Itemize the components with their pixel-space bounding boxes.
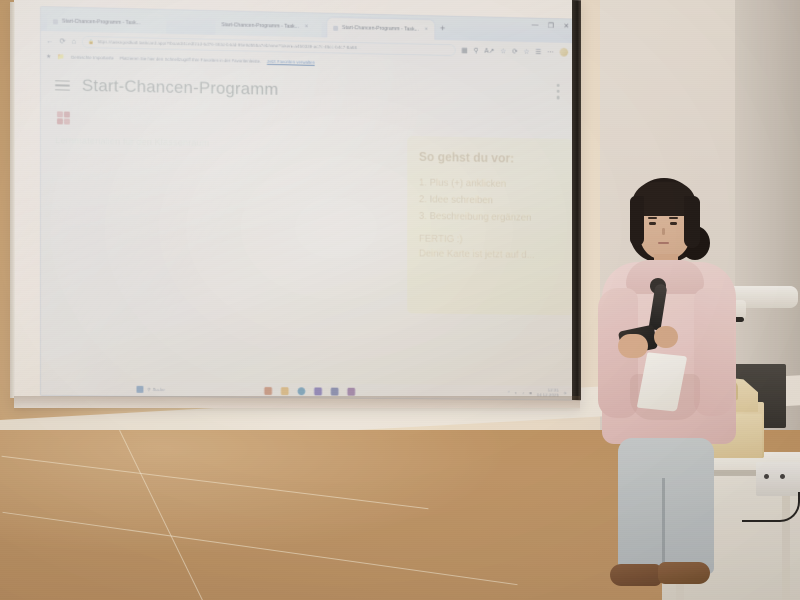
audio-device (756, 462, 800, 496)
close-window-button[interactable]: ✕ (564, 22, 570, 30)
search-input[interactable]: ⚲ Suche (147, 386, 164, 392)
address-bar-value: https://taskngoldkatt.taskcard.app/#/boa… (97, 39, 360, 50)
volume-icon[interactable]: ♪ (522, 390, 524, 395)
hamburger-menu-icon[interactable] (55, 80, 70, 91)
taskbar-search-area[interactable]: ⚲ Suche (136, 386, 164, 393)
clock-time: 12:31 (537, 388, 559, 393)
jeans-seam (662, 478, 665, 574)
profile-avatar[interactable] (560, 48, 569, 57)
hand-left (618, 334, 648, 358)
tab-close-icon[interactable]: × (305, 24, 308, 30)
battery-icon[interactable]: ■ (529, 390, 532, 395)
maximize-button[interactable]: ❐ (548, 22, 554, 30)
hair-side-left (630, 196, 644, 246)
add-favorite-icon[interactable]: ☆ (523, 47, 529, 55)
file-explorer-icon[interactable] (264, 387, 272, 395)
taskcard-web-app: Start-Chancen-Programm Lernmaterialien f… (41, 63, 573, 386)
shoe-right (658, 562, 710, 584)
new-tab-button[interactable]: + (440, 23, 445, 33)
instruction-step-3: 3. Beschreibung ergänzen (419, 208, 562, 227)
sleeve-right (694, 288, 734, 416)
card-subheading-2: für eine bessere Lernumgebung (51, 213, 380, 232)
screen-right-edge (572, 0, 581, 400)
device-button[interactable] (780, 474, 785, 479)
tab-1[interactable]: Start-Chancen-Programm - Task... × (327, 18, 434, 40)
windows-start-icon[interactable] (136, 386, 143, 393)
presenter (596, 178, 736, 598)
eyebrow-left (648, 217, 657, 219)
app-header: Start-Chancen-Programm (41, 63, 573, 117)
page-title: Start-Chancen-Programm (82, 76, 279, 100)
folder-icon[interactable] (281, 387, 289, 395)
settings-more-icon[interactable]: ⋯ (547, 48, 554, 56)
device-cable (742, 492, 800, 522)
board-grid-icon[interactable] (57, 111, 70, 124)
show-hidden-icons-icon[interactable]: ^ (508, 390, 510, 395)
manage-favorites-link[interactable]: Jetzt Favoriten verwalten (267, 59, 315, 65)
eyebrow-right (669, 217, 678, 219)
tab-0[interactable]: Start-Chancen-Programm - Task... × (216, 15, 322, 37)
board-column-left: Lernmaterialien für den Klassenraum Wir … (41, 135, 390, 263)
store-icon[interactable] (314, 387, 322, 395)
home-icon[interactable]: ⌂ (72, 37, 77, 46)
shoe-left (610, 564, 662, 586)
favorites-star-icon[interactable]: ☆ (500, 47, 506, 55)
window-controls: — ❐ ✕ (532, 22, 570, 31)
search-icon: ⚲ (147, 386, 150, 392)
tab-title: Start-Chancen-Programm - Task... (62, 19, 140, 27)
tab-favicon (53, 19, 58, 24)
favorites-bar: ★ 📁 Gemischte Importierte Platzieren Sie… (41, 50, 573, 74)
browser-toolbar-icons: ▦ ⚲ A↗ ☆ ⟳ ☆ ☰ ⋯ (461, 45, 568, 56)
favorites-icon[interactable]: ★ (46, 53, 51, 60)
instruction-step-2: 2. Idee schreiben (419, 191, 562, 210)
nose (662, 228, 665, 235)
browser-window: Start-Chancen-Programm - Task... Start-C… (40, 6, 574, 401)
eye-right (670, 222, 677, 225)
eye-left (649, 222, 656, 225)
more-options-icon[interactable] (557, 84, 560, 99)
read-aloud-icon[interactable]: A↗ (484, 46, 494, 54)
hair-side-right (684, 196, 700, 248)
address-bar[interactable]: 🔒 https://taskngoldkatt.taskcard.app/#/b… (82, 35, 455, 55)
settings-icon[interactable] (331, 387, 339, 395)
zoom-icon[interactable]: ⚲ (474, 46, 479, 54)
search-placeholder: Suche (153, 387, 165, 392)
browser-essentials-icon[interactable]: ☰ (535, 48, 541, 56)
tab-favicon (333, 25, 338, 30)
favorites-folder-label[interactable]: Gemischte Importierte (71, 55, 114, 61)
instruction-card-title: So gehst du vor: (419, 150, 562, 166)
tab-title: Start-Chancen-Programm - Task... (221, 22, 298, 30)
instruction-done-label: FERTIG :) (419, 234, 562, 247)
card-paragraph-2: Wir möchten bequeme Stühle, neue Tische … (51, 231, 380, 249)
refresh-page-icon[interactable]: ⟳ (512, 47, 518, 55)
instruction-step-1: 1. Plus (+) anklicken (419, 175, 562, 194)
hand-right (654, 326, 678, 348)
lock-icon: 🔒 (88, 39, 94, 45)
jeans (618, 438, 714, 574)
refresh-icon[interactable]: ⟳ (59, 36, 65, 45)
taskbar-app-icons (264, 387, 355, 396)
mail-icon[interactable] (347, 387, 355, 395)
card-paragraph-1: Wir möchten neue Lernmaterialien, wie Bü… (51, 158, 380, 204)
network-icon[interactable]: ◐ (515, 390, 518, 395)
projected-browser-image: Start-Chancen-Programm - Task... Start-C… (40, 6, 574, 401)
instruction-card: So gehst du vor: 1. Plus (+) anklicken 2… (407, 136, 573, 315)
classroom-photo-scene: Start-Chancen-Programm - Task... Start-C… (0, 0, 800, 600)
card-heading: Lernmaterialien für den Klassenraum (55, 135, 380, 152)
back-icon[interactable]: ← (46, 36, 53, 45)
browser-tab-strip: Start-Chancen-Programm - Task... Start-C… (41, 7, 573, 43)
browser-nav-bar: ← ⟳ ⌂ 🔒 https://taskngoldkatt.taskcard.a… (41, 31, 573, 62)
folder-icon[interactable]: 📁 (57, 53, 64, 60)
collections-icon[interactable]: ▦ (461, 46, 467, 54)
screen-bottom-shadow (14, 396, 580, 412)
device-button[interactable] (764, 474, 769, 479)
tab-inactive-left[interactable]: Start-Chancen-Programm - Task... (47, 11, 166, 34)
minimize-button[interactable]: — (532, 22, 539, 30)
edge-browser-icon[interactable] (298, 387, 306, 395)
instruction-footer: Deine Karte ist jetzt auf d... (419, 248, 562, 261)
projection-screen: Start-Chancen-Programm - Task... Start-C… (14, 0, 580, 408)
favorites-hint: Platzieren Sie hier den Schnellzugriff I… (120, 56, 261, 64)
screen-left-edge (10, 2, 15, 398)
tab-close-icon[interactable]: × (425, 27, 428, 33)
tab-title: Start-Chancen-Programm - Task... (342, 25, 419, 33)
